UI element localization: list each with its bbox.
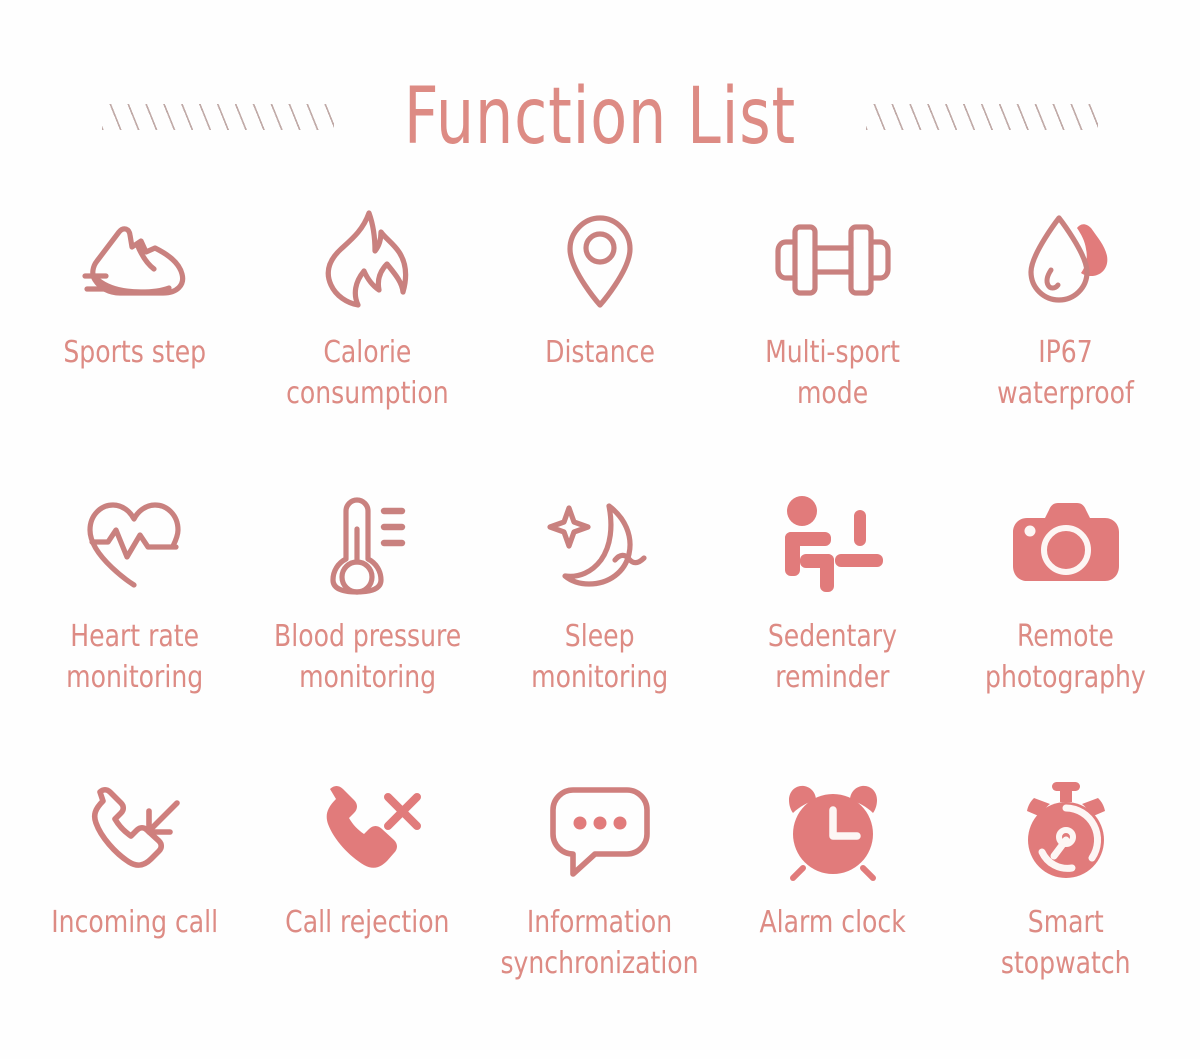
feature-label: Sedentary reminder <box>768 616 897 699</box>
page-header: Function List <box>0 0 1200 200</box>
feature-label: Alarm clock <box>760 902 906 943</box>
feature-grid: Sports step Calorie consumption Distance <box>0 200 1200 1058</box>
location-pin-icon <box>558 200 642 320</box>
feature-multi-sport-mode[interactable]: Multi-sport mode <box>716 200 949 486</box>
feature-label: IP67 waterproof <box>997 332 1134 415</box>
feature-label: Call rejection <box>285 902 449 943</box>
feature-sleep-monitoring[interactable]: Sleep monitoring <box>484 486 717 772</box>
feature-heart-rate-monitoring[interactable]: Heart rate monitoring <box>18 486 251 772</box>
feature-label: Information synchronization <box>501 902 699 985</box>
feature-distance[interactable]: Distance <box>484 200 717 486</box>
function-list-page: Function List Sports step <box>0 0 1200 1059</box>
chat-bubble-dots-icon <box>547 772 653 890</box>
feature-label: Calorie consumption <box>286 332 449 415</box>
feature-blood-pressure-monitoring[interactable]: Blood pressure monitoring <box>251 486 484 772</box>
feature-label: Sleep monitoring <box>531 616 668 699</box>
feature-call-rejection[interactable]: Call rejection <box>251 772 484 1058</box>
feature-information-synchronization[interactable]: Information synchronization <box>484 772 717 1058</box>
flame-icon <box>319 200 415 320</box>
camera-icon <box>1011 486 1121 604</box>
feature-label: Remote photography <box>985 616 1146 699</box>
feature-alarm-clock[interactable]: Alarm clock <box>716 772 949 1058</box>
call-reject-icon <box>314 772 420 890</box>
feature-remote-photography[interactable]: Remote photography <box>949 486 1182 772</box>
feature-label: Distance <box>545 332 655 373</box>
dumbbell-icon <box>771 200 895 320</box>
feature-sedentary-reminder[interactable]: Sedentary reminder <box>716 486 949 772</box>
diagonal-hatch-ornament-left <box>102 104 334 130</box>
incoming-call-icon <box>81 772 187 890</box>
feature-label: Multi-sport mode <box>765 332 900 415</box>
diagonal-hatch-ornament-right <box>866 104 1098 130</box>
feature-sports-step[interactable]: Sports step <box>18 200 251 486</box>
heart-pulse-icon <box>82 486 186 604</box>
feature-label: Sports step <box>63 332 206 373</box>
feature-incoming-call[interactable]: Incoming call <box>18 772 251 1058</box>
seated-person-desk-icon <box>780 486 886 604</box>
stopwatch-icon <box>1014 772 1118 890</box>
moon-star-icon <box>545 486 655 604</box>
water-drop-icon <box>1015 200 1117 320</box>
feature-smart-stopwatch[interactable]: Smart stopwatch <box>949 772 1182 1058</box>
feature-label: Incoming call <box>51 902 218 943</box>
feature-ip67-waterproof[interactable]: IP67 waterproof <box>949 200 1182 486</box>
running-shoe-icon <box>75 200 193 320</box>
feature-label: Heart rate monitoring <box>66 616 203 699</box>
alarm-clock-icon <box>781 772 885 890</box>
thermometer-icon <box>324 486 410 604</box>
feature-calorie-consumption[interactable]: Calorie consumption <box>251 200 484 486</box>
page-title: Function List <box>404 78 796 156</box>
feature-label: Smart stopwatch <box>1001 902 1131 985</box>
feature-label: Blood pressure monitoring <box>274 616 461 699</box>
